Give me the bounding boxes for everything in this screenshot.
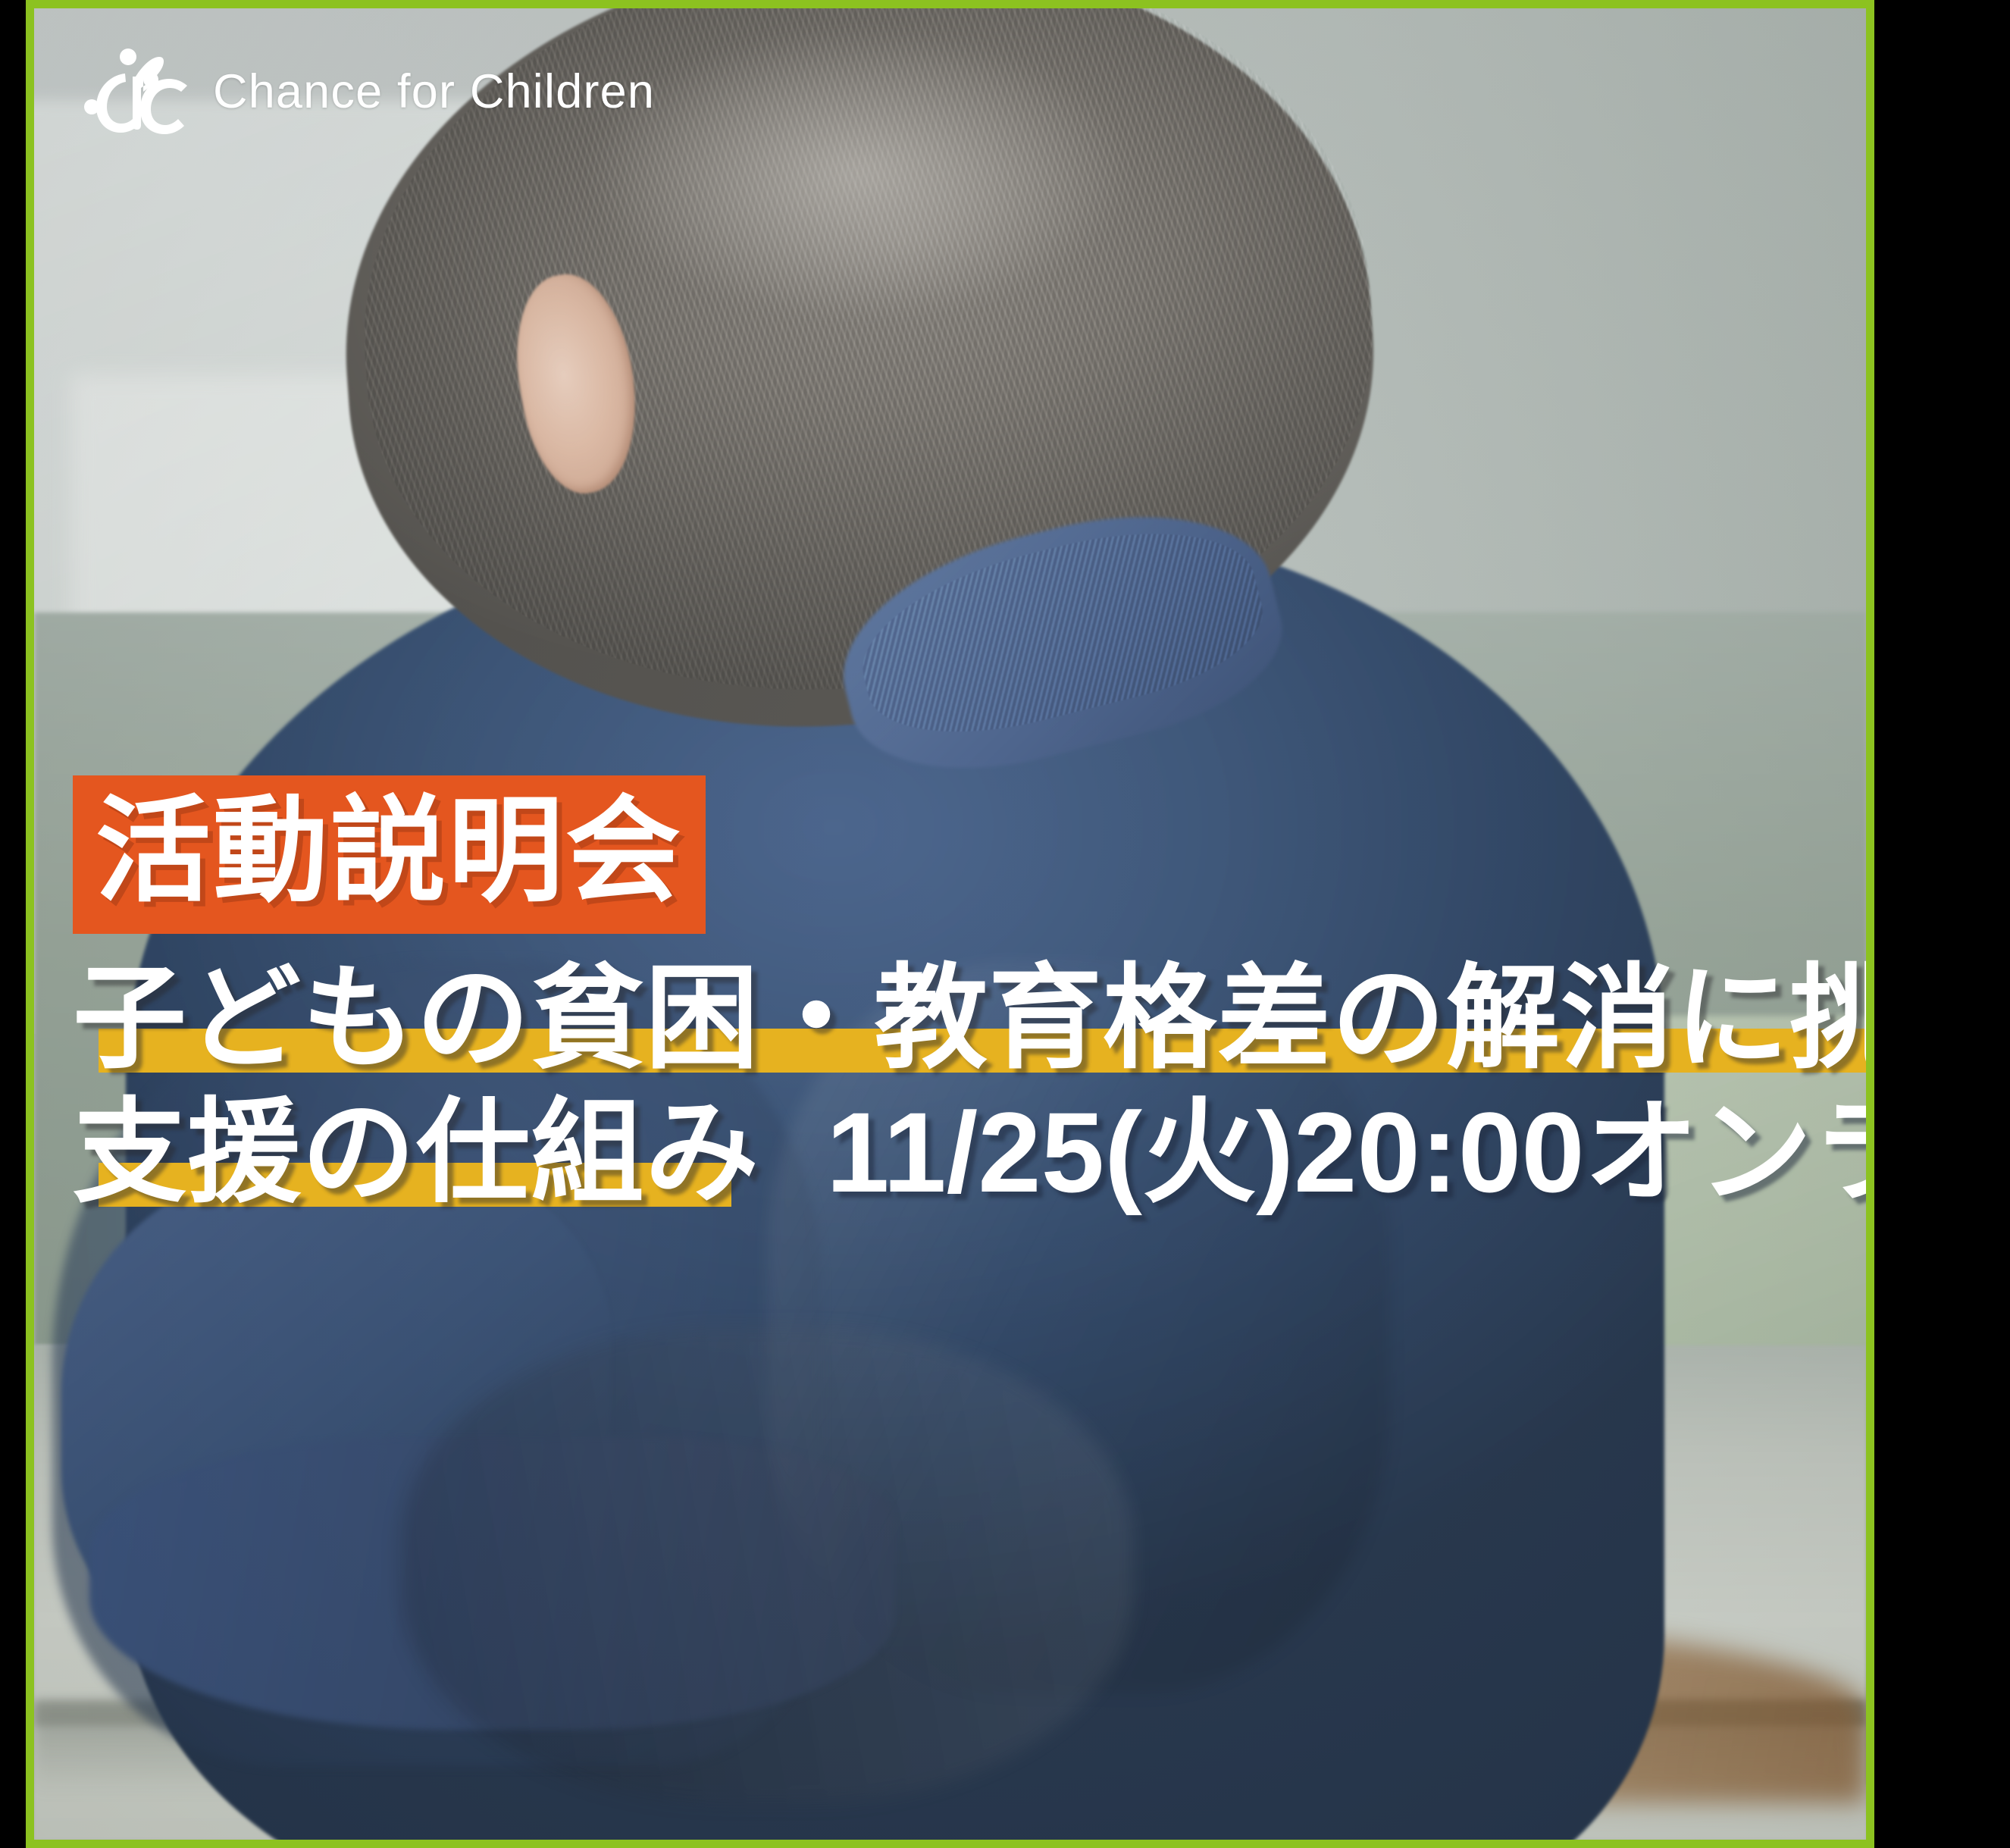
headline-line-1-text: 子どもの貧困・教育格差の解消に挑む、 [73, 954, 1866, 1082]
headline-line-2-text: 支援の仕組み [73, 1088, 759, 1216]
event-datetime: 11/25(火)20:00オンライン [826, 1088, 1866, 1216]
banner-stage: Chance for Children 活動説明会 子どもの貧困・教育格差の解消… [0, 0, 2010, 1848]
headline-block: 活動説明会 子どもの貧困・教育格差の解消に挑む、 支援の仕組み11/25(火)2… [73, 775, 1861, 1217]
banner-content-area: Chance for Children 活動説明会 子どもの貧困・教育格差の解消… [34, 8, 1866, 1840]
event-type-badge: 活動説明会 [73, 775, 706, 934]
photo-child-hair-highlight [584, 27, 1133, 320]
brand-logo: Chance for Children [81, 43, 655, 140]
headline-line-1: 子どもの貧困・教育格差の解消に挑む、 [73, 954, 1861, 1083]
badge-row: 活動説明会 [73, 775, 1861, 934]
brand-wordmark: Chance for Children [213, 68, 655, 116]
green-framed-banner: Chance for Children 活動説明会 子どもの貧困・教育格差の解消… [26, 0, 1874, 1848]
photo-fabric-fold-lower [400, 1327, 1133, 1803]
headline-line-2: 支援の仕組み11/25(火)20:00オンライン [73, 1088, 1861, 1217]
cfc-monogram-icon [81, 43, 193, 140]
